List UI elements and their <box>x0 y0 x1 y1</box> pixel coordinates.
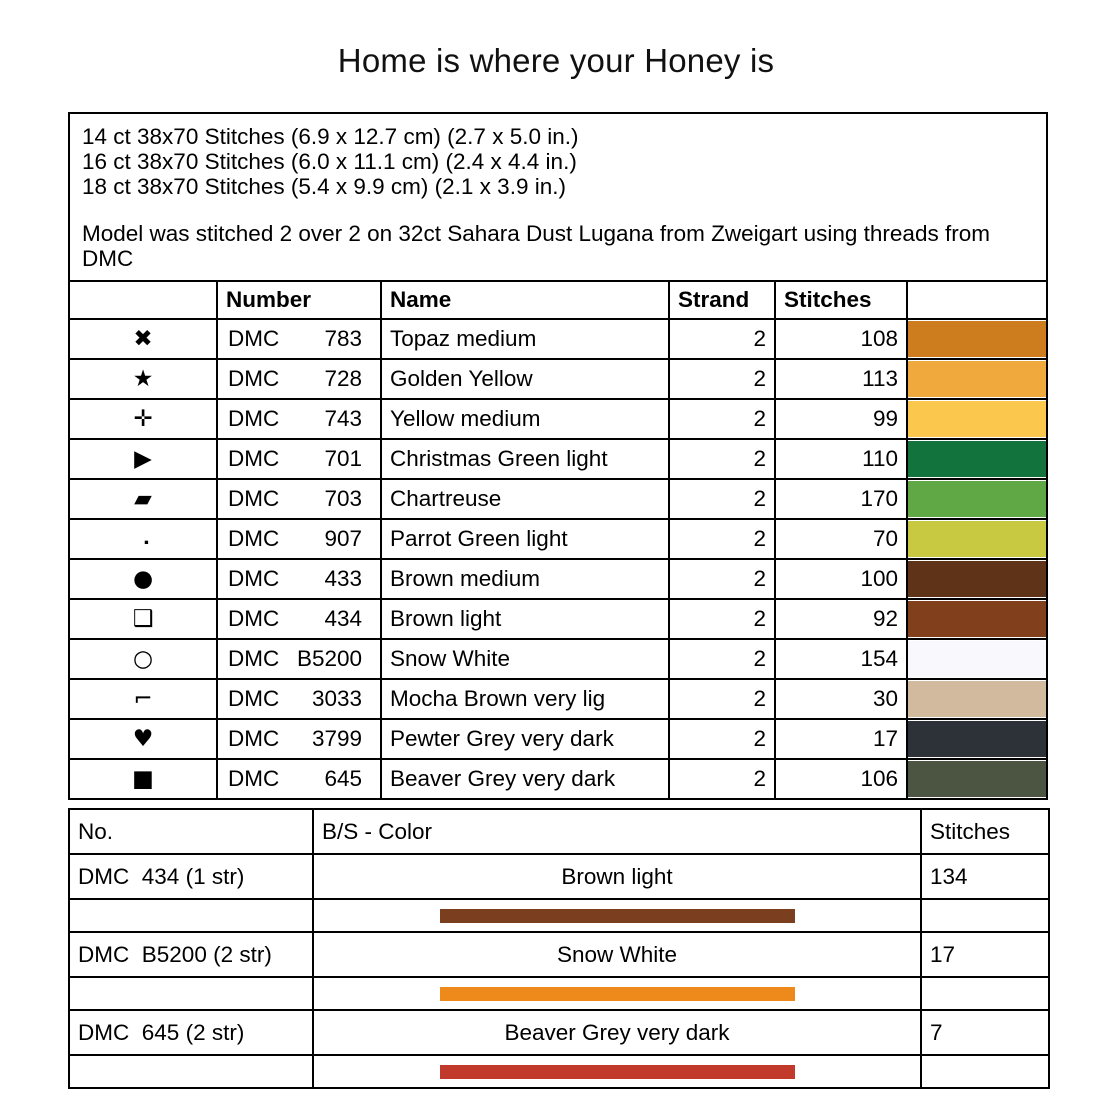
thread-brand: DMC <box>228 486 279 512</box>
strand-count: 2 <box>669 759 775 799</box>
thread-number-cell: DMC783 <box>217 319 381 359</box>
backstitch-thread-id: DMC 645 (2 str) <box>69 1010 313 1055</box>
thread-color-name: Brown light <box>381 599 669 639</box>
table-row: ■DMC645Beaver Grey very dark2106 <box>69 759 1047 799</box>
stitch-count: 108 <box>775 319 907 359</box>
thread-color-name: Christmas Green light <box>381 439 669 479</box>
backstitch-bar-spacer-right <box>921 899 1049 932</box>
thread-number-cell: DMC728 <box>217 359 381 399</box>
table-row: ❑DMC434Brown light292 <box>69 599 1047 639</box>
backstitch-color-name: Beaver Grey very dark <box>313 1010 921 1055</box>
info-line-14ct: 14 ct 38x70 Stitches (6.9 x 12.7 cm) (2.… <box>82 124 1034 149</box>
thread-color-name: Topaz medium <box>381 319 669 359</box>
backstitch-brand: DMC <box>78 942 129 967</box>
strand-count: 2 <box>669 519 775 559</box>
stitch-count: 30 <box>775 679 907 719</box>
thread-color-name: Beaver Grey very dark <box>381 759 669 799</box>
thread-number-cell: DMC907 <box>217 519 381 559</box>
strand-count: 2 <box>669 599 775 639</box>
stitch-count: 100 <box>775 559 907 599</box>
thread-number-cell: DMC434 <box>217 599 381 639</box>
color-swatch <box>908 321 1046 357</box>
thread-number-cell: DMC743 <box>217 399 381 439</box>
color-swatch-cell <box>907 719 1047 759</box>
table-row: DMC B5200 (2 str)Snow White17 <box>69 932 1049 977</box>
thread-number-cell: DMC701 <box>217 439 381 479</box>
open-circle-symbol: ○ <box>69 639 217 679</box>
color-swatch-cell <box>907 439 1047 479</box>
color-swatch-cell <box>907 639 1047 679</box>
strand-count: 2 <box>669 439 775 479</box>
legend-body: ✖DMC783Topaz medium2108★DMC728Golden Yel… <box>69 319 1047 799</box>
strand-count: 2 <box>669 679 775 719</box>
plus-symbol: ✛ <box>69 399 217 439</box>
strand-count: 2 <box>669 639 775 679</box>
strand-count: 2 <box>669 479 775 519</box>
thread-number: 701 <box>324 446 370 472</box>
backstitch-table: No. B/S - Color Stitches DMC 434 (1 str)… <box>68 808 1050 1089</box>
right-triangle-symbol: ▶ <box>69 439 217 479</box>
thread-brand: DMC <box>228 406 279 432</box>
backstitch-brand: DMC <box>78 864 129 889</box>
stitch-count: 154 <box>775 639 907 679</box>
strand-count: 2 <box>669 399 775 439</box>
backstitch-brand: DMC <box>78 1020 129 1045</box>
table-row: DMC 434 (1 str)Brown light134 <box>69 854 1049 899</box>
thread-color-name: Parrot Green light <box>381 519 669 559</box>
color-swatch <box>908 401 1046 437</box>
thread-brand: DMC <box>228 686 279 712</box>
table-row: ▶DMC701Christmas Green light2110 <box>69 439 1047 479</box>
color-swatch-cell <box>907 559 1047 599</box>
thread-number: 907 <box>324 526 370 552</box>
cross-stitch-legend-page: Home is where your Honey is 14 ct 38x70 … <box>0 0 1112 1100</box>
backstitch-bar-cell <box>313 899 921 932</box>
thread-brand: DMC <box>228 566 279 592</box>
thread-brand: DMC <box>228 726 279 752</box>
backstitch-color-bar <box>440 987 795 1001</box>
thread-color-name: Yellow medium <box>381 399 669 439</box>
backstitch-header-row: No. B/S - Color Stitches <box>69 809 1049 854</box>
stitch-count: 99 <box>775 399 907 439</box>
strand-count: 2 <box>669 319 775 359</box>
thread-number-cell: DMC3799 <box>217 719 381 759</box>
thread-number-cell: DMC3033 <box>217 679 381 719</box>
open-square-symbol: ❑ <box>69 599 217 639</box>
color-swatch <box>908 361 1046 397</box>
backstitch-bar-spacer-right <box>921 977 1049 1010</box>
table-row: ♥DMC3799Pewter Grey very dark217 <box>69 719 1047 759</box>
color-swatch-cell <box>907 319 1047 359</box>
thread-color-name: Mocha Brown very lig <box>381 679 669 719</box>
corner-flag-symbol: ⌐ <box>69 679 217 719</box>
thread-number: 703 <box>324 486 370 512</box>
color-swatch-cell <box>907 399 1047 439</box>
filled-square-symbol: ■ <box>69 759 217 799</box>
strand-count: 2 <box>669 559 775 599</box>
color-swatch-cell <box>907 519 1047 559</box>
color-swatch <box>908 601 1046 637</box>
table-row: ✖DMC783Topaz medium2108 <box>69 319 1047 359</box>
color-swatch-cell <box>907 359 1047 399</box>
pattern-info-box: 14 ct 38x70 Stitches (6.9 x 12.7 cm) (2.… <box>68 112 1048 285</box>
thread-number: B5200 <box>297 646 370 672</box>
star-symbol: ★ <box>69 359 217 399</box>
backstitch-stitch-count: 17 <box>921 932 1049 977</box>
legend-header-strand: Strand <box>669 281 775 319</box>
thread-color-name: Snow White <box>381 639 669 679</box>
thread-color-name: Chartreuse <box>381 479 669 519</box>
color-swatch <box>908 641 1046 677</box>
backstitch-color-bar <box>440 909 795 923</box>
three-dots-symbol: ⠠ <box>69 519 217 559</box>
thread-number: 728 <box>324 366 370 392</box>
backstitch-bar-spacer-right <box>921 1055 1049 1088</box>
legend-header-number: Number <box>217 281 381 319</box>
thread-brand: DMC <box>228 526 279 552</box>
backstitch-number: 645 <box>142 1020 180 1046</box>
backstitch-color-name: Brown light <box>313 854 921 899</box>
backstitch-number: 434 <box>142 864 180 890</box>
color-swatch <box>908 481 1046 517</box>
backstitch-stitch-count: 134 <box>921 854 1049 899</box>
info-line-16ct: 16 ct 38x70 Stitches (6.0 x 11.1 cm) (2.… <box>82 149 1034 174</box>
backstitch-bar-spacer-left <box>69 899 313 932</box>
table-row: ⌐DMC3033Mocha Brown very lig230 <box>69 679 1047 719</box>
backstitch-bar-row <box>69 977 1049 1010</box>
stitch-count: 106 <box>775 759 907 799</box>
thread-color-name: Golden Yellow <box>381 359 669 399</box>
backstitch-bar-row <box>69 899 1049 932</box>
thread-brand: DMC <box>228 766 279 792</box>
backstitch-bar-cell <box>313 1055 921 1088</box>
strand-count: 2 <box>669 359 775 399</box>
info-note-fabric: Model was stitched 2 over 2 on 32ct Saha… <box>82 221 1034 271</box>
color-swatch-cell <box>907 679 1047 719</box>
backstitch-number: B5200 <box>142 942 207 968</box>
backstitch-strands: (2 str) <box>186 1020 245 1045</box>
stitch-count: 70 <box>775 519 907 559</box>
table-row: ✛DMC743Yellow medium299 <box>69 399 1047 439</box>
backstitch-strands: (1 str) <box>186 864 245 889</box>
color-swatch-cell <box>907 479 1047 519</box>
color-swatch <box>908 521 1046 557</box>
thread-brand: DMC <box>228 366 279 392</box>
stitch-count: 17 <box>775 719 907 759</box>
info-spacer <box>82 199 1034 221</box>
thread-number: 434 <box>324 606 370 632</box>
thread-number: 3033 <box>312 686 370 712</box>
backstitch-header-color: B/S - Color <box>313 809 921 854</box>
strand-count: 2 <box>669 719 775 759</box>
stitch-count: 92 <box>775 599 907 639</box>
filled-circle-symbol: ● <box>69 559 217 599</box>
thread-number: 783 <box>324 326 370 352</box>
backstitch-thread-id: DMC 434 (1 str) <box>69 854 313 899</box>
page-title: Home is where your Honey is <box>0 42 1112 80</box>
thread-number-cell: DMC645 <box>217 759 381 799</box>
color-swatch <box>908 681 1046 717</box>
thread-number: 3799 <box>312 726 370 752</box>
thread-brand: DMC <box>228 446 279 472</box>
table-row: ○DMCB5200Snow White2154 <box>69 639 1047 679</box>
backstitch-color-bar <box>440 1065 795 1079</box>
table-row: DMC 645 (2 str)Beaver Grey very dark7 <box>69 1010 1049 1055</box>
table-row: ★DMC728Golden Yellow2113 <box>69 359 1047 399</box>
color-swatch <box>908 761 1046 797</box>
legend-header-symbol <box>69 281 217 319</box>
table-row: ●DMC433Brown medium2100 <box>69 559 1047 599</box>
backstitch-bar-cell <box>313 977 921 1010</box>
thread-number-cell: DMCB5200 <box>217 639 381 679</box>
thread-legend-table: Number Name Strand Stitches ✖DMC783Topaz… <box>68 280 1048 800</box>
legend-header-stitches: Stitches <box>775 281 907 319</box>
thread-brand: DMC <box>228 326 279 352</box>
backstitch-color-name: Snow White <box>313 932 921 977</box>
backstitch-header-no: No. <box>69 809 313 854</box>
color-swatch-cell <box>907 759 1047 799</box>
backstitch-body: DMC 434 (1 str)Brown light134DMC B5200 (… <box>69 854 1049 1088</box>
color-swatch <box>908 441 1046 477</box>
bold-x-symbol: ✖ <box>69 319 217 359</box>
color-swatch <box>908 721 1046 757</box>
stitch-count: 170 <box>775 479 907 519</box>
info-line-18ct: 18 ct 38x70 Stitches (5.4 x 9.9 cm) (2.1… <box>82 174 1034 199</box>
legend-header-name: Name <box>381 281 669 319</box>
two-squares-symbol: ▰ <box>69 479 217 519</box>
thread-number: 433 <box>324 566 370 592</box>
legend-header-swatch <box>907 281 1047 319</box>
thread-color-name: Pewter Grey very dark <box>381 719 669 759</box>
heart-symbol: ♥ <box>69 719 217 759</box>
thread-number-cell: DMC703 <box>217 479 381 519</box>
backstitch-stitch-count: 7 <box>921 1010 1049 1055</box>
backstitch-header-stitches: Stitches <box>921 809 1049 854</box>
stitch-count: 113 <box>775 359 907 399</box>
thread-color-name: Brown medium <box>381 559 669 599</box>
backstitch-bar-row <box>69 1055 1049 1088</box>
thread-number: 645 <box>324 766 370 792</box>
color-swatch <box>908 561 1046 597</box>
backstitch-bar-spacer-left <box>69 977 313 1010</box>
thread-brand: DMC <box>228 606 279 632</box>
stitch-count: 110 <box>775 439 907 479</box>
legend-header-row: Number Name Strand Stitches <box>69 281 1047 319</box>
thread-number: 743 <box>324 406 370 432</box>
backstitch-bar-spacer-left <box>69 1055 313 1088</box>
backstitch-strands: (2 str) <box>213 942 272 967</box>
backstitch-thread-id: DMC B5200 (2 str) <box>69 932 313 977</box>
thread-number-cell: DMC433 <box>217 559 381 599</box>
table-row: ⠠DMC907Parrot Green light270 <box>69 519 1047 559</box>
thread-brand: DMC <box>228 646 279 672</box>
table-row: ▰DMC703Chartreuse2170 <box>69 479 1047 519</box>
color-swatch-cell <box>907 599 1047 639</box>
